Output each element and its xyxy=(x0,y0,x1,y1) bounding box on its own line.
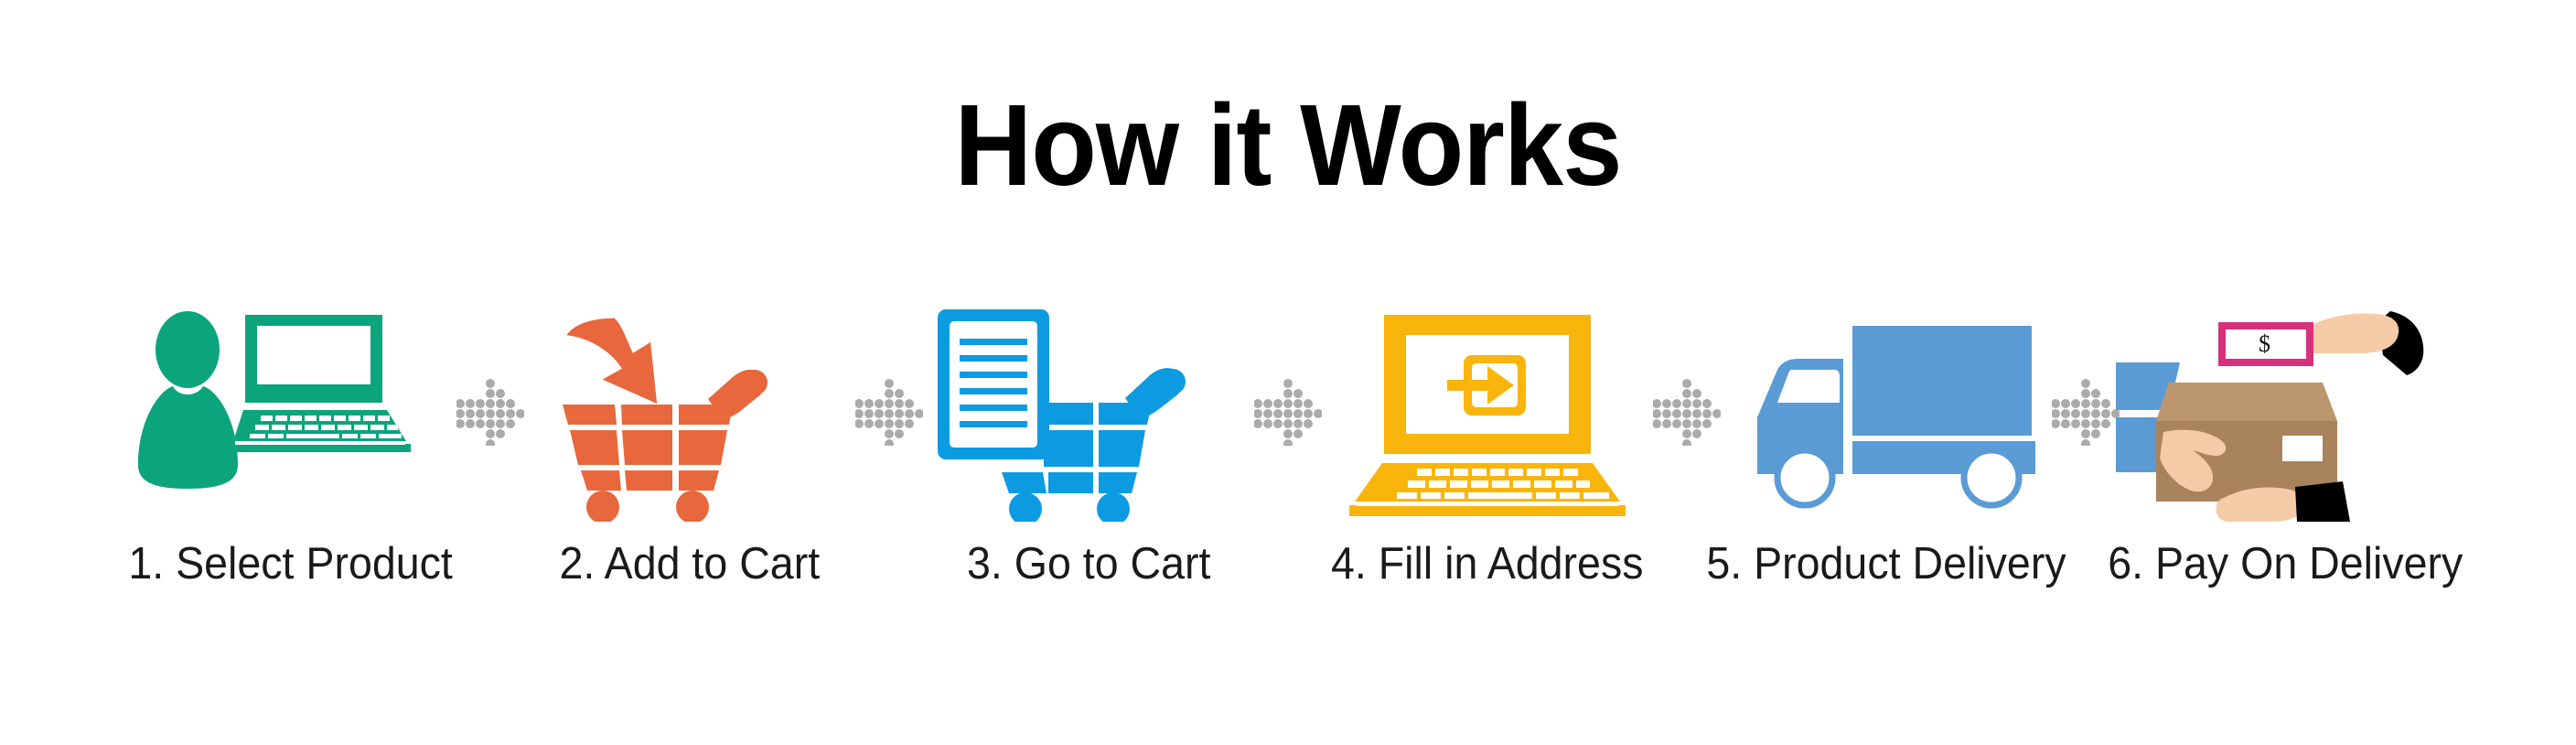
delivery-truck-icon xyxy=(1717,302,2055,522)
how-it-works-infographic: How it Works xyxy=(0,0,2576,745)
step-select-product[interactable]: 1. Select Product xyxy=(118,302,464,587)
steps-row: 1. Select Product xyxy=(0,302,2576,650)
step-pay-on-delivery[interactable]: $ xyxy=(2112,302,2458,587)
box-lid xyxy=(2156,383,2337,421)
step-fill-in-address[interactable]: 4. Fill in Address xyxy=(1315,302,1660,587)
step-product-delivery[interactable]: 5. Product Delivery xyxy=(1713,302,2059,587)
currency-symbol: $ xyxy=(2259,330,2270,357)
customer-sleeve-lower xyxy=(2295,481,2350,522)
banknote: $ xyxy=(2218,322,2313,366)
step-label: 3. Go to Cart xyxy=(967,542,1210,587)
step-label: 5. Product Delivery xyxy=(1706,542,2066,587)
hands-exchanging-box-and-money-icon: $ xyxy=(2116,302,2454,522)
shipping-label xyxy=(2282,436,2323,461)
step-add-to-cart[interactable]: 2. Add to Cart xyxy=(517,302,863,587)
document-with-shopping-cart-icon xyxy=(919,302,1258,522)
step-label: 2. Add to Cart xyxy=(560,542,821,587)
arrow-into-shopping-cart-icon xyxy=(521,302,859,522)
person-with-laptop-icon xyxy=(122,302,460,522)
page-title: How it Works xyxy=(91,88,2486,203)
step-label: 6. Pay On Delivery xyxy=(2108,542,2463,587)
customer-hand-upper xyxy=(2302,313,2399,353)
step-label: 4. Fill in Address xyxy=(1331,542,1644,587)
step-label: 1. Select Product xyxy=(129,542,453,587)
laptop-with-login-arrow-icon xyxy=(1318,302,1657,522)
step-go-to-cart[interactable]: 3. Go to Cart xyxy=(916,302,1261,587)
